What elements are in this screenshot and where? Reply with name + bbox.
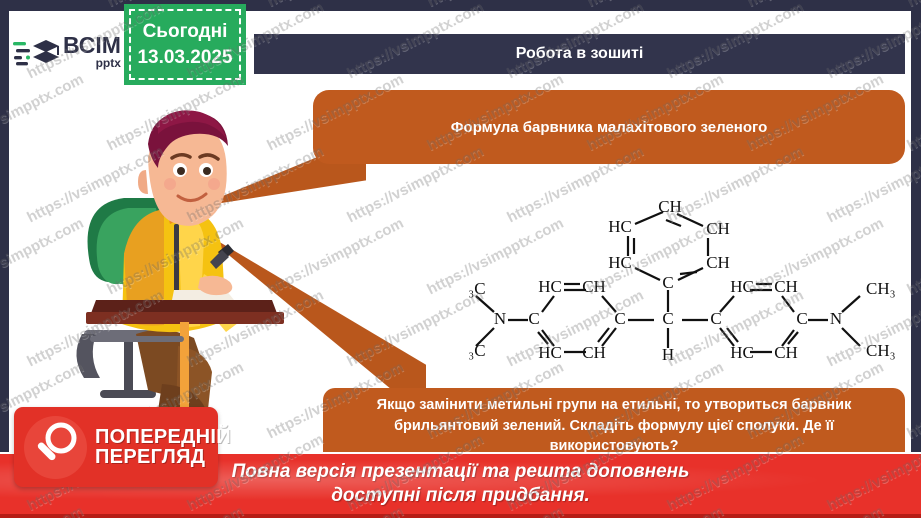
- chemical-formula-diagram: CH HC CH HC CH C C H C CH CH HC HC C N C…: [468, 196, 912, 372]
- today-label: Сьогодні: [143, 21, 228, 43]
- atom-right-ring-br: CH: [774, 343, 798, 362]
- today-date-badge: Сьогодні 13.03.2025: [124, 4, 246, 85]
- magnifier-icon: [24, 416, 87, 479]
- atom-right-ring-left: C: [710, 309, 721, 328]
- purchase-banner-line2: доступні після придбання.: [331, 484, 590, 508]
- atom-left-ring-tl: HC: [538, 277, 562, 296]
- atom-right-ring-tl: HC: [730, 277, 754, 296]
- atom-ring-top-top: CH: [658, 197, 682, 216]
- atom-nitrogen-left: N: [494, 309, 506, 328]
- logo-subtext: pptx: [63, 58, 121, 69]
- atom-left-ring-tr: CH: [582, 277, 606, 296]
- atom-methyl-right-bottom: CH₃: [866, 341, 896, 360]
- today-date: 13.03.2025: [137, 47, 232, 69]
- frame-left: [0, 0, 9, 518]
- slide-root: Формула барвника малахітового зеленого: [0, 0, 921, 518]
- preview-badge-line1: ПОПЕРЕДНІЙ: [95, 427, 231, 447]
- atom-right-ring-right: C: [796, 309, 807, 328]
- atom-ring-top-ll: HC: [608, 253, 632, 272]
- brand-logo: ВСІМ pptx: [13, 28, 131, 76]
- formula-title-text: Формула барвника малахітового зеленого: [451, 119, 768, 136]
- preview-badge[interactable]: ПОПЕРЕДНІЙ ПЕРЕГЛЯД: [14, 407, 218, 487]
- task-text: Якщо замінити метильні групи на етильні,…: [345, 395, 883, 457]
- purchase-banner-line1: Повна версія презентації та решта доповн…: [232, 460, 690, 484]
- atom-left-ring-br: CH: [582, 343, 606, 362]
- atom-methyl-right-top: CH₃: [866, 279, 896, 298]
- atom-ring-top-ur: CH: [706, 219, 730, 238]
- atom-central-hydrogen: H: [662, 345, 674, 364]
- atom-right-ring-bl: HC: [730, 343, 754, 362]
- section-header-bar: Робота в зошиті: [254, 34, 905, 74]
- atom-ring-top-lr: CH: [706, 253, 730, 272]
- preview-badge-line2: ПЕРЕГЛЯД: [95, 447, 231, 467]
- atom-ring-top-bottom: C: [662, 273, 673, 292]
- illustration-student-writing: [62, 84, 312, 424]
- section-header-title: Робота в зошиті: [516, 45, 644, 63]
- atom-left-ring-right: C: [614, 309, 625, 328]
- atom-methyl-left-bottom: H₃C: [468, 341, 486, 360]
- atom-right-ring-tr: CH: [774, 277, 798, 296]
- atom-nitrogen-right: N: [830, 309, 842, 328]
- logo-wordmark: ВСІМ: [63, 35, 121, 56]
- atom-methyl-left-top: H₃C: [468, 279, 486, 298]
- atom-central-carbon: C: [662, 309, 673, 328]
- formula-title-panel: Формула барвника малахітового зеленого: [313, 90, 905, 164]
- frame-right: [911, 0, 921, 518]
- graduation-cap-icon: [13, 33, 59, 71]
- atom-ring-top-ul: HC: [608, 217, 632, 236]
- atom-left-ring-bl: HC: [538, 343, 562, 362]
- atom-left-ring-left: C: [528, 309, 539, 328]
